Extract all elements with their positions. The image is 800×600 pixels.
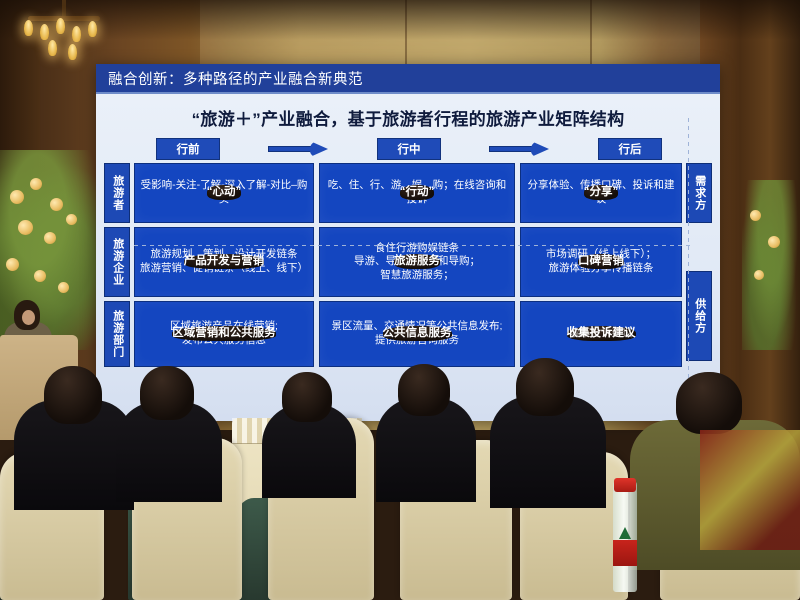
row-label-tourists: 旅游者 bbox=[104, 163, 130, 223]
cell-enterprises-post: 口碑营销 市场调研（线上线下）；旅游体验分享传播链条 bbox=[520, 227, 682, 297]
cell-departments-during: 公共信息服务 景区流量、交通情况等公共信息发布;提供旅游咨询服务 bbox=[319, 301, 515, 367]
water-bottle-cap bbox=[614, 478, 636, 492]
slide-main-title: “旅游＋”产业融合，基于旅游者行程的旅游产业矩阵结构 bbox=[104, 105, 712, 130]
arrow-right-icon-2 bbox=[489, 143, 551, 155]
phase-chip-during: 行中 bbox=[377, 138, 441, 160]
cell-body: 收集投诉建议 bbox=[570, 327, 633, 341]
cell-head: “行动” bbox=[400, 185, 435, 199]
row-label-departments: 旅游部门 bbox=[104, 301, 130, 367]
cell-enterprises-during: 旅游服务 食住行游购娱链条导游、导览、导航和导购；智慧旅游服务； bbox=[319, 227, 515, 297]
side-vertical-divider bbox=[688, 118, 689, 413]
attendee-4-head bbox=[398, 364, 450, 416]
flower-arrangement-right bbox=[742, 180, 800, 350]
cell-head: 区域营销和公共服务 bbox=[172, 326, 276, 340]
cell-tourists-pre: “心动” 受影响-关注-了解-深入了解-对比–购买 bbox=[134, 163, 314, 223]
attendee-1-head bbox=[44, 366, 102, 424]
phase-header-row: 行前 行中 行后 bbox=[156, 139, 662, 158]
cell-head: 旅游服务 bbox=[394, 254, 440, 268]
cell-head: 公共信息服务 bbox=[383, 326, 452, 340]
cell-head: “分享” bbox=[584, 185, 619, 199]
matrix-row-enterprises: 产品开发与营销 旅游规划、策划、设计开发链条旅游营销、促销链条（线上、线下） 旅… bbox=[134, 227, 682, 297]
arrow-right-icon-1 bbox=[268, 143, 330, 155]
slide-header-bar: 融合创新：多种路径的产业融合新典范 bbox=[96, 64, 720, 94]
chandelier bbox=[22, 0, 107, 60]
cell-head: 产品开发与营销 bbox=[184, 254, 265, 268]
cell-head: “心动” bbox=[207, 185, 242, 199]
matrix-grid: “心动” 受影响-关注-了解-深入了解-对比–购买 “行动” 吃、住、行、游、娱… bbox=[134, 163, 682, 367]
row-label-column: 旅游者 旅游企业 旅游部门 bbox=[104, 163, 130, 367]
matrix-row-departments: 区域营销和公共服务 区域旅游产品在线营销;发布公共服务信息 公共信息服务 景区流… bbox=[134, 301, 682, 367]
attendee-5-head bbox=[516, 358, 574, 416]
row-label-enterprises: 旅游企业 bbox=[104, 227, 130, 297]
phase-chip-post: 行后 bbox=[598, 138, 662, 160]
cell-enterprises-pre: 产品开发与营销 旅游规划、策划、设计开发链条旅游营销、促销链条（线上、线下） bbox=[134, 227, 314, 297]
phase-chip-pre: 行前 bbox=[156, 138, 220, 160]
cell-head: 口碑营销 bbox=[578, 254, 624, 268]
cell-tourists-post: “分享” 分享体验、传播口碑、投诉和建议 bbox=[520, 163, 682, 223]
ceiling-shadow bbox=[0, 0, 800, 40]
demand-supply-divider bbox=[134, 245, 694, 246]
side-label-column: 需求方 供给方 bbox=[686, 163, 712, 367]
cell-tourists-during: “行动” 吃、住、行、游、娱、购；在线咨询和投诉 bbox=[319, 163, 515, 223]
carpet bbox=[700, 430, 800, 550]
attendee-6-head bbox=[676, 372, 742, 434]
attendee-3-head bbox=[282, 372, 332, 422]
water-bottle-label bbox=[613, 540, 637, 566]
side-label-demand: 需求方 bbox=[686, 163, 712, 223]
side-label-supply: 供给方 bbox=[686, 271, 712, 361]
conference-room-photo: 融合创新：多种路径的产业融合新典范 “旅游＋”产业融合，基于旅游者行程的旅游产业… bbox=[0, 0, 800, 600]
matrix-row-tourists: “心动” 受影响-关注-了解-深入了解-对比–购买 “行动” 吃、住、行、游、娱… bbox=[134, 163, 682, 223]
speaker-face bbox=[22, 310, 35, 325]
tourism-matrix: 旅游者 旅游企业 旅游部门 “心动” 受影响-关注-了解-深入了解-对比–购买 … bbox=[104, 163, 712, 367]
cell-departments-pre: 区域营销和公共服务 区域旅游产品在线营销;发布公共服务信息 bbox=[134, 301, 314, 367]
slide-header-title: 融合创新：多种路径的产业融合新典范 bbox=[108, 68, 363, 89]
attendee-2-head bbox=[140, 366, 194, 420]
